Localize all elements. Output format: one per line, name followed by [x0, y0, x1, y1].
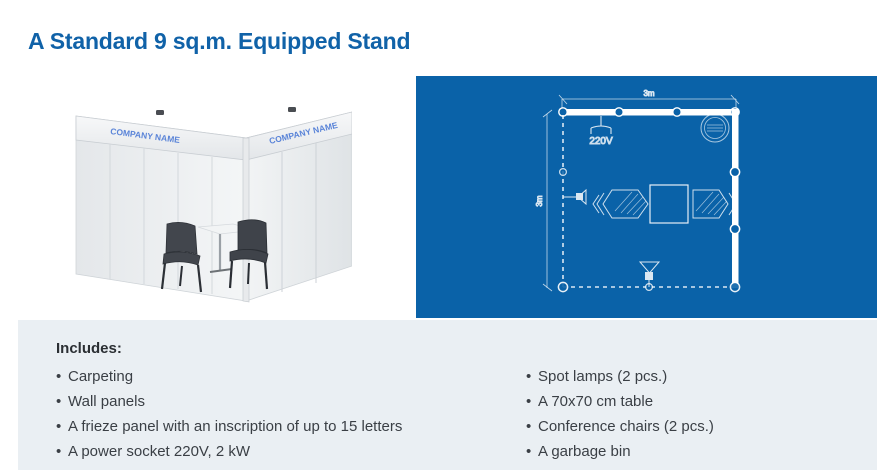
list-item: •A frieze panel with an inscription of u…	[56, 414, 526, 439]
list-item-label: A power socket 220V, 2 kW	[68, 443, 250, 460]
list-item: •Wall panels	[56, 389, 526, 414]
bullet-icon: •	[526, 389, 538, 414]
includes-list-left: •Carpeting •Wall panels •A frieze panel …	[56, 364, 526, 464]
square-table-icon	[650, 185, 688, 223]
conference-chair-left	[593, 190, 648, 218]
bullet-icon: •	[56, 364, 68, 389]
socket-label: 220V	[589, 136, 613, 147]
includes-panel: Includes: •Carpeting •Wall panels •A fri…	[18, 320, 877, 470]
list-item: •A garbage bin	[526, 439, 876, 464]
bullet-icon: •	[526, 414, 538, 439]
dimension-left	[543, 110, 552, 291]
bullet-icon: •	[526, 364, 538, 389]
top-wall	[559, 108, 739, 116]
includes-heading: Includes:	[56, 340, 122, 357]
stand-photo: COMPANY NAME COMPANY NAME	[60, 96, 352, 312]
spot-lamp-right	[288, 107, 296, 112]
page-title: A Standard 9 sq.m. Equipped Stand	[28, 28, 410, 55]
list-item: •Conference chairs (2 pcs.)	[526, 414, 876, 439]
spot-lamp-icon	[640, 262, 659, 287]
list-item-label: A garbage bin	[538, 443, 631, 460]
company-stamp-icon	[701, 114, 729, 142]
bullet-icon: •	[526, 439, 538, 464]
conference-chair-right	[693, 190, 736, 218]
bullet-icon: •	[56, 414, 68, 439]
list-item: •Spot lamps (2 pcs.)	[526, 364, 876, 389]
list-item-label: Carpeting	[68, 368, 133, 385]
right-wall	[730, 109, 739, 288]
list-item-label: A 70x70 cm table	[538, 393, 653, 410]
list-item: •A power socket 220V, 2 kW	[56, 439, 526, 464]
list-item-label: Conference chairs (2 pcs.)	[538, 418, 714, 435]
list-item: •Carpeting	[56, 364, 526, 389]
dimension-top-label: 3m	[643, 89, 654, 98]
list-item-label: A frieze panel with an inscription of up…	[68, 418, 402, 435]
includes-list-right: •Spot lamps (2 pcs.) •A 70x70 cm table •…	[526, 364, 876, 464]
floorplan-panel: 3m 3m	[416, 76, 877, 318]
bullet-icon: •	[56, 439, 68, 464]
bullet-icon: •	[56, 389, 68, 414]
list-item: •A 70x70 cm table	[526, 389, 876, 414]
spot-lamp-left	[156, 110, 164, 115]
dimension-left-label: 3m	[535, 195, 544, 206]
list-item-label: Spot lamps (2 pcs.)	[538, 368, 667, 385]
list-item-label: Wall panels	[68, 393, 145, 410]
power-socket-220v	[591, 116, 611, 134]
wall-socket-icon	[563, 190, 586, 204]
